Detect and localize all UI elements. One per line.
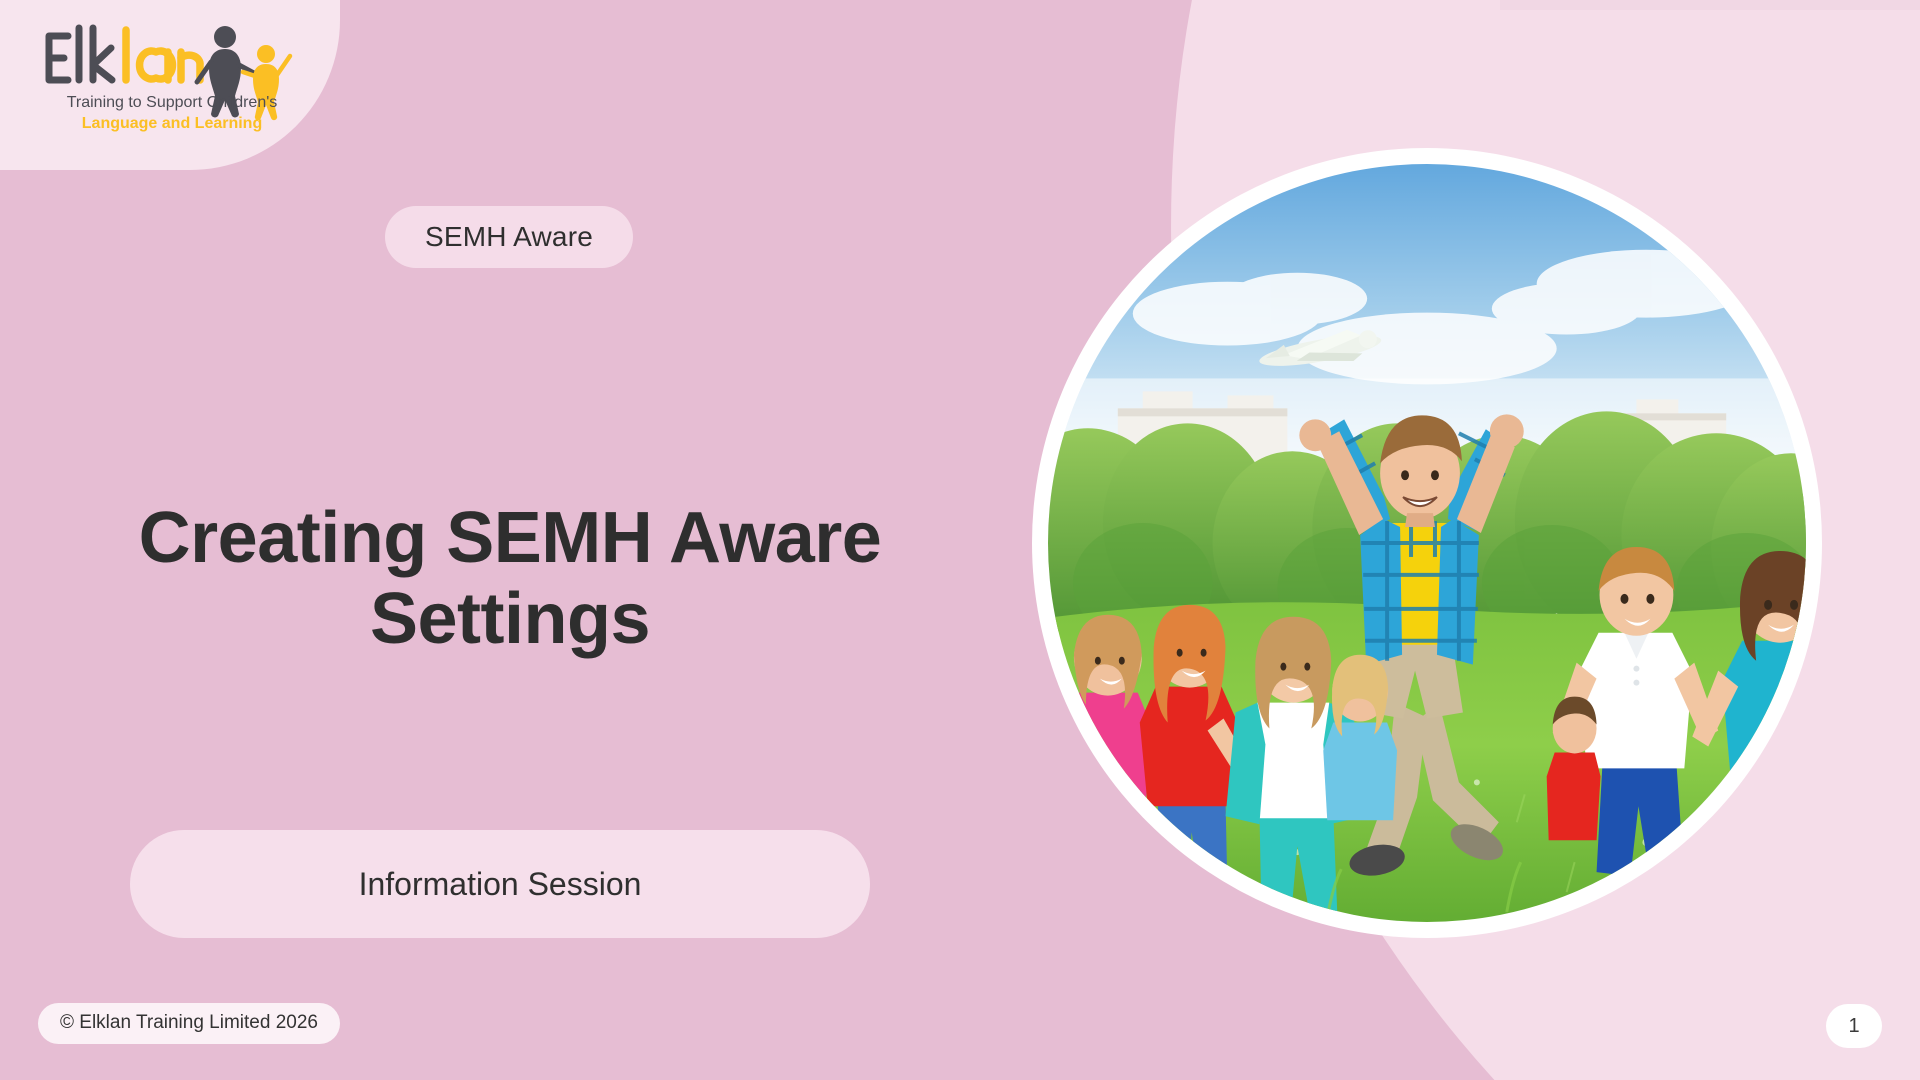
children-running-photo-illustration bbox=[1048, 164, 1806, 922]
page-number-badge: 1 bbox=[1826, 1004, 1882, 1048]
page-title: Creating SEMH Aware Settings bbox=[60, 498, 960, 659]
copyright-notice: © Elklan Training Limited 2026 bbox=[38, 1003, 340, 1044]
slide-root: Training to Support Children's Language … bbox=[0, 0, 1920, 1080]
subtitle-label: Information Session bbox=[359, 866, 642, 903]
logo-tagline-line1: Training to Support Children's bbox=[67, 94, 278, 111]
subtitle-pill: Information Session bbox=[130, 830, 870, 938]
child-behind-blue bbox=[1323, 655, 1397, 821]
elklan-logo[interactable]: Training to Support Children's Language … bbox=[38, 20, 306, 140]
child-red-behind bbox=[1547, 697, 1601, 841]
kicker-badge: SEMH Aware bbox=[385, 206, 633, 268]
photo-ring bbox=[1032, 148, 1822, 938]
logo-tagline-line2: Language and Learning bbox=[82, 115, 262, 132]
background-strip-top bbox=[1500, 0, 1920, 10]
children-running-photo bbox=[1048, 164, 1806, 922]
